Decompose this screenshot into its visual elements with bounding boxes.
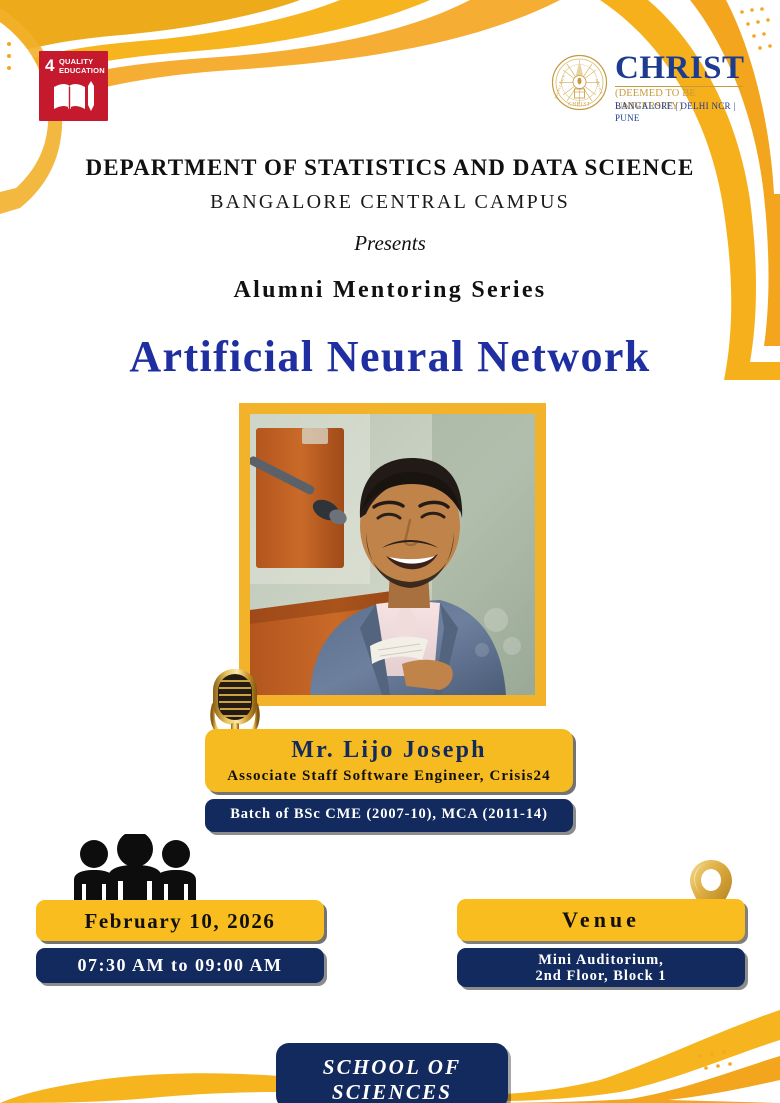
- speaker-photo-illustration: [250, 414, 535, 695]
- speaker-photo-frame: [239, 403, 546, 706]
- sdg-label: QUALITY EDUCATION: [59, 57, 105, 75]
- speaker-name-banner: Mr. Lijo Joseph Associate Staff Software…: [205, 729, 573, 792]
- christ-wordmark: CHRIST: [615, 50, 745, 86]
- school-footer-banner: SCHOOL OF SCIENCES: [276, 1043, 508, 1103]
- school-name: SCHOOL OF SCIENCES: [276, 1055, 508, 1103]
- sdg-label-line2: EDUCATION: [59, 66, 105, 75]
- speaker-batch-banner: Batch of BSc CME (2007-10), MCA (2011-14…: [205, 799, 573, 832]
- venue-line-1: Mini Auditorium,: [457, 952, 745, 969]
- speaker-batch: Batch of BSc CME (2007-10), MCA (2011-14…: [205, 806, 573, 823]
- venue-line-2: 2nd Floor, Block 1: [457, 968, 745, 985]
- event-topic-title: Artificial Neural Network: [0, 331, 780, 382]
- event-time-banner: 07:30 AM to 09:00 AM: [36, 948, 324, 983]
- christ-campuses: BANGALORE | DELHI NCR | PUNE: [615, 100, 743, 124]
- campus-subtitle: BANGALORE CENTRAL CAMPUS: [0, 191, 780, 214]
- speaker-name: Mr. Lijo Joseph: [205, 737, 573, 764]
- sdg-label-line1: QUALITY: [59, 57, 93, 66]
- event-poster: 4 QUALITY EDUCATION: [0, 0, 780, 1103]
- svg-text:CHRIST: CHRIST: [568, 103, 591, 108]
- christ-university-emblem-icon: CHRIST EXCELLENCE SERVICE: [551, 54, 608, 111]
- sdg4-quality-education-logo: 4 QUALITY EDUCATION: [39, 51, 108, 121]
- event-date: February 10, 2026: [36, 909, 324, 934]
- open-book-pencil-icon: [51, 79, 97, 113]
- speaker-photo: [250, 414, 535, 695]
- event-time: 07:30 AM to 09:00 AM: [36, 955, 324, 976]
- series-title: Alumni Mentoring Series: [0, 277, 780, 304]
- svg-text:SERVICE: SERVICE: [594, 78, 603, 95]
- venue-title: Venue: [457, 907, 745, 933]
- event-date-banner: February 10, 2026: [36, 900, 324, 941]
- christ-university-logo: CHRIST EXCELLENCE SERVICE CHRIST (DEEMED…: [551, 52, 743, 114]
- presents-label: Presents: [0, 231, 780, 256]
- department-title: DEPARTMENT OF STATISTICS AND DATA SCIENC…: [0, 155, 780, 181]
- venue-title-banner: Venue: [457, 899, 745, 941]
- sdg-number: 4: [45, 57, 54, 74]
- audience-people-icon: [62, 834, 208, 902]
- speaker-role: Associate Staff Software Engineer, Crisi…: [205, 768, 573, 785]
- venue-detail-banner: Mini Auditorium, 2nd Floor, Block 1: [457, 948, 745, 987]
